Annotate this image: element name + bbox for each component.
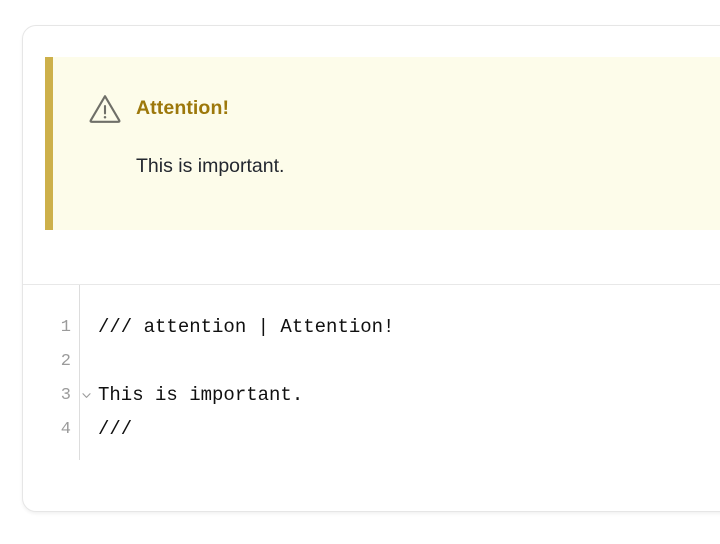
page-root: Attention! This is important. 1 2 3 bbox=[0, 0, 720, 544]
line-number: 3 bbox=[61, 387, 71, 404]
chevron-down-icon[interactable] bbox=[81, 390, 92, 401]
line-number: 2 bbox=[61, 353, 71, 370]
code-pane[interactable]: 1 2 3 4 /// a bbox=[23, 285, 720, 460]
line-number-row: 1 bbox=[23, 310, 79, 344]
line-number-gutter: 1 2 3 4 bbox=[23, 285, 80, 460]
example-card: Attention! This is important. 1 2 3 bbox=[22, 25, 720, 512]
code-lines[interactable]: /// attention | Attention! This is impor… bbox=[80, 285, 720, 460]
code-line[interactable]: /// bbox=[98, 412, 720, 446]
line-number-row: 4 bbox=[23, 412, 79, 446]
admonition-title: Attention! bbox=[136, 99, 229, 119]
code-line[interactable] bbox=[98, 344, 720, 378]
line-number: 1 bbox=[61, 319, 71, 336]
admonition-title-row: Attention! bbox=[88, 93, 229, 124]
admonition-attention: Attention! This is important. bbox=[45, 57, 720, 230]
line-number-row: 2 bbox=[23, 344, 79, 378]
warning-triangle-icon bbox=[88, 93, 122, 124]
preview-pane: Attention! This is important. bbox=[23, 26, 720, 284]
code-line[interactable]: This is important. bbox=[98, 378, 720, 412]
code-line[interactable]: /// attention | Attention! bbox=[98, 310, 720, 344]
line-number: 4 bbox=[61, 421, 71, 438]
line-number-row: 3 bbox=[23, 378, 79, 412]
admonition-body-text: This is important. bbox=[136, 157, 284, 177]
